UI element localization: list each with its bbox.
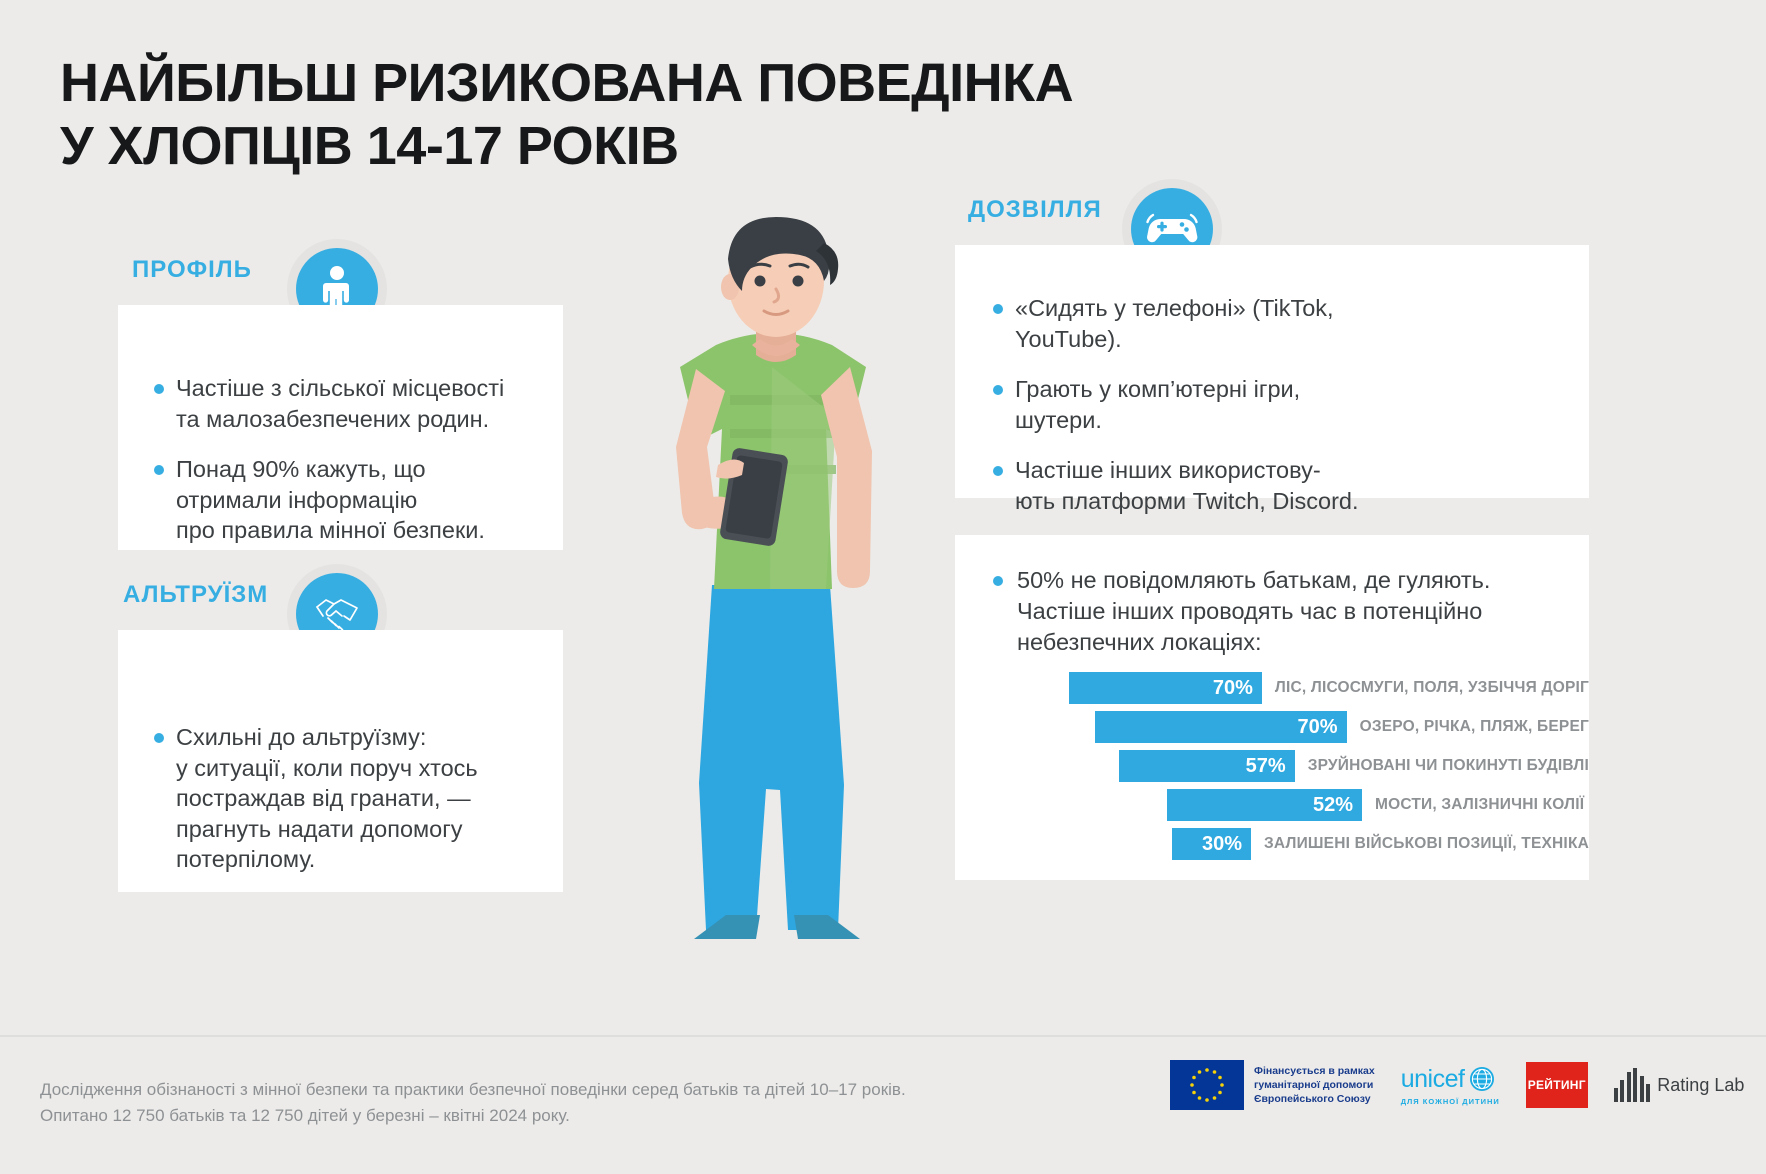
profile-bullet-list: Частіше з сільської місцевості та малоза… xyxy=(154,373,539,546)
leisure-bullet-list: «Сидять у телефоні» (TikTok, YouTube). Г… xyxy=(993,293,1553,516)
list-item: Частіше з сільської місцевості та малоза… xyxy=(154,373,539,434)
section-label-profile: ПРОФІЛЬ xyxy=(132,256,252,284)
unicef-logo: unicef ДЛЯ КОЖНОЇ ДИТИНИ xyxy=(1401,1065,1500,1106)
bar-value-4: 30% xyxy=(1172,828,1251,860)
unicef-word: unicef xyxy=(1401,1065,1465,1094)
list-item: Схильні до альтруїзму: у ситуації, коли … xyxy=(154,722,539,875)
bar-category-4: ЗАЛИШЕНІ ВІЙСЬКОВІ ПОЗИЦІЇ, ТЕХНІКА xyxy=(1264,835,1589,853)
chart-lead-text: 50% не повідомляють батькам, де гуляють.… xyxy=(991,565,1551,658)
table-row: 30% ЗАЛИШЕНІ ВІЙСЬКОВІ ПОЗИЦІЇ, ТЕХНІКА xyxy=(987,828,1589,860)
list-item: Понад 90% кажуть, що отримали інформацію… xyxy=(154,454,539,546)
dangerous-locations-card: 50% не повідомляють батькам, де гуляють.… xyxy=(955,535,1589,880)
bar-track: 57% xyxy=(987,750,1295,782)
leisure-card: «Сидять у телефоні» (TikTok, YouTube). Г… xyxy=(955,245,1589,498)
infographic-page: НАЙБІЛЬШ РИЗИКОВАНА ПОВЕДІНКА У ХЛОПЦІВ … xyxy=(0,0,1766,1174)
locations-bar-chart: 70% ЛІС, ЛІСОСМУГИ, ПОЛЯ, УЗБІЧЧЯ ДОРІГ … xyxy=(987,672,1589,860)
rating-lab-bars-icon xyxy=(1614,1068,1651,1102)
table-row: 52% МОСТИ, ЗАЛІЗНИЧНІ КОЛІЇ xyxy=(987,789,1589,821)
rating-lab-text: Rating Lab xyxy=(1657,1075,1744,1096)
eu-logo-text: Фінансується в рамках гуманітарної допом… xyxy=(1254,1064,1375,1107)
bar-value-2: 57% xyxy=(1119,750,1294,782)
section-label-leisure: ДОЗВІЛЛЯ xyxy=(968,196,1102,224)
unicef-globe-icon xyxy=(1469,1066,1495,1092)
altruism-card: Схильні до альтруїзму: у ситуації, коли … xyxy=(118,630,563,892)
bar-category-2: ЗРУЙНОВАНІ ЧИ ПОКИНУТІ БУДІВЛІ xyxy=(1308,757,1589,775)
reyting-logo: РЕЙТИНГ xyxy=(1526,1062,1588,1108)
bar-track: 70% xyxy=(987,711,1347,743)
footer-note: Дослідження обізнаності з мінної безпеки… xyxy=(40,1077,1200,1130)
unicef-wordmark: unicef xyxy=(1401,1065,1500,1094)
teen-boy-illustration xyxy=(600,215,960,945)
bar-category-0: ЛІС, ЛІСОСМУГИ, ПОЛЯ, УЗБІЧЧЯ ДОРІГ xyxy=(1275,679,1589,697)
section-label-altruism: АЛЬТРУЇЗМ xyxy=(123,581,268,609)
bar-track: 52% xyxy=(987,789,1362,821)
unicef-tagline: ДЛЯ КОЖНОЇ ДИТИНИ xyxy=(1401,1097,1500,1106)
bar-value-3: 52% xyxy=(1167,789,1362,821)
bar-category-1: ОЗЕРО, РІЧКА, ПЛЯЖ, БЕРЕГ xyxy=(1360,718,1589,736)
bar-track: 70% xyxy=(987,672,1262,704)
rating-lab-logo: Rating Lab xyxy=(1614,1068,1745,1102)
eu-flag-icon xyxy=(1170,1060,1244,1110)
bar-category-3: МОСТИ, ЗАЛІЗНИЧНІ КОЛІЇ xyxy=(1375,796,1584,814)
table-row: 70% ОЗЕРО, РІЧКА, ПЛЯЖ, БЕРЕГ xyxy=(987,711,1589,743)
footer-divider xyxy=(0,1035,1766,1037)
bar-track: 30% xyxy=(987,828,1251,860)
bar-value-1: 70% xyxy=(1095,711,1347,743)
table-row: 70% ЛІС, ЛІСОСМУГИ, ПОЛЯ, УЗБІЧЧЯ ДОРІГ xyxy=(987,672,1589,704)
list-item: Грають у комп’ютерні ігри, шутери. xyxy=(993,374,1553,435)
profile-card: Частіше з сільської місцевості та малоза… xyxy=(118,305,563,550)
table-row: 57% ЗРУЙНОВАНІ ЧИ ПОКИНУТІ БУДІВЛІ xyxy=(987,750,1589,782)
eu-logo: Фінансується в рамках гуманітарної допом… xyxy=(1170,1060,1375,1110)
footer-logos: Фінансується в рамках гуманітарної допом… xyxy=(1170,1060,1744,1110)
list-item: «Сидять у телефоні» (TikTok, YouTube). xyxy=(993,293,1553,354)
list-item: Частіше інших використову- ють платформи… xyxy=(993,455,1553,516)
altruism-bullet-list: Схильні до альтруїзму: у ситуації, коли … xyxy=(154,722,539,875)
page-title: НАЙБІЛЬШ РИЗИКОВАНА ПОВЕДІНКА У ХЛОПЦІВ … xyxy=(60,52,1360,178)
bar-value-0: 70% xyxy=(1069,672,1261,704)
